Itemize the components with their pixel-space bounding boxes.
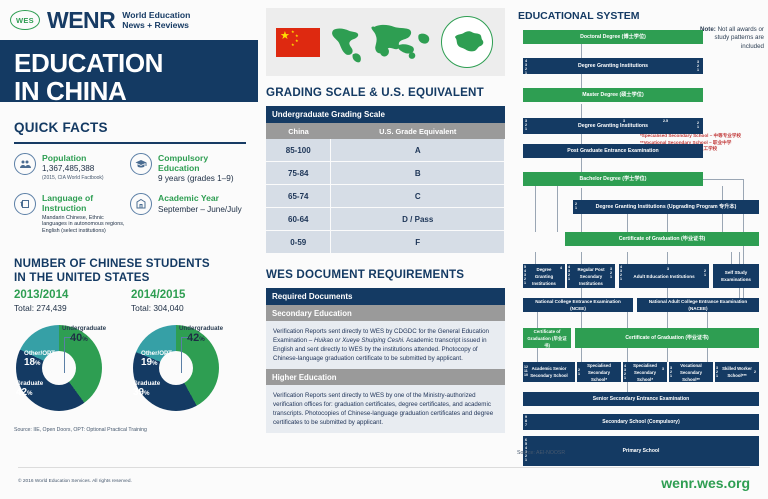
- cell-us-grade: A: [331, 139, 505, 162]
- population-icon: [14, 153, 36, 175]
- flow-box-specialised-secondary-b: Specialised Secondary School*: [623, 362, 667, 382]
- students-heading-2: IN THE UNITED STATES: [14, 271, 248, 285]
- chart-total: Total: 274,439: [14, 303, 131, 313]
- year-markers-right: 3: [662, 367, 664, 371]
- documents-section: WES DOCUMENT REQUIREMENTS Required Docum…: [258, 254, 513, 433]
- quick-facts-section: QUICK FACTS Population 1,367,485,388 (20…: [0, 102, 258, 243]
- flow-box-postgrad-entrance-exam: Post Graduate Entrance Examination: [523, 144, 703, 158]
- flow-box-senior-secondary-entrance-exam: Senior Secondary Entrance Examination: [523, 392, 759, 406]
- table-header-row: China U.S. Grade Equivalent: [266, 123, 505, 139]
- flow-box-academic-senior-secondary: Academic Senior Secondary School: [523, 362, 575, 382]
- year-markers-left: 2 1: [575, 202, 577, 210]
- wenr-wordmark: WENR: [47, 7, 115, 34]
- flow-box-vocational-secondary: Vocational Secondary School**: [669, 362, 713, 382]
- title-line-2: IN CHINA: [14, 77, 258, 105]
- tagline-line-1: World Education: [122, 10, 190, 21]
- flow-box-dgi-master: Degree Granting Institutions: [523, 118, 703, 134]
- fact-label: Language of Instruction: [42, 193, 130, 213]
- year-markers-left: 3 2 1: [670, 366, 672, 378]
- year-markers-right: 2 1: [697, 121, 699, 129]
- donut-chart-2013: 2013/2014 Total: 274,439 Other/OPT 18% G…: [14, 289, 131, 421]
- copyright-text: © 2016 World Education Services. All rig…: [18, 479, 132, 484]
- chart-year: 2014/2015: [131, 289, 248, 301]
- documents-heading: WES DOCUMENT REQUIREMENTS: [266, 268, 505, 282]
- page-footer: © 2016 World Education Services. All rig…: [0, 467, 768, 499]
- flow-box-secondary-compulsory: Secondary School (Compulsory): [523, 414, 759, 430]
- doc-subtitle-secondary: Secondary Education: [266, 305, 505, 321]
- cell-us-grade: B: [331, 162, 505, 185]
- segment-label-undergraduate: Undergraduate 40%: [62, 325, 122, 344]
- cell-china-range: 65-74: [266, 185, 331, 208]
- flow-box-certificate-graduation-2: Certificate of Graduation (毕业证书): [523, 328, 571, 348]
- year-markers-right: 3 2 1: [697, 60, 699, 72]
- wes-logo-text: WES: [16, 16, 34, 25]
- grading-heading: GRADING SCALE & U.S. EQUIVALENT: [266, 86, 505, 100]
- page-title: EDUCATION IN CHINA: [0, 40, 258, 102]
- fact-label: Academic Year: [158, 193, 242, 203]
- documents-box: Required Documents Secondary Education V…: [266, 288, 505, 433]
- flow-box-certificate-graduation-1: Certificate of Graduation (毕业证书): [565, 232, 759, 246]
- fact-note: Mandarin Chinese, Ethnic languages in au…: [42, 215, 130, 235]
- cell-china-range: 75-84: [266, 162, 331, 185]
- quick-facts-grid: Population 1,367,485,388 (2015, CIA Worl…: [14, 153, 246, 244]
- cell-us-grade: F: [331, 231, 505, 254]
- year-markers-left: 4 3 2 1: [624, 364, 626, 380]
- fact-label: Population: [42, 153, 104, 163]
- doc-text-higher: Verification Reports sent directly to WE…: [266, 385, 505, 433]
- cell-china-range: 0-59: [266, 231, 331, 254]
- year-markers-right: 4: [560, 266, 562, 270]
- year-markers-left: 4 3 2 1: [525, 59, 527, 75]
- leader-line: [181, 337, 188, 373]
- flow-box-upgrading-program: Degree Granting Institutions (Upgrading …: [573, 200, 759, 214]
- flow-box-skilled-worker-school: Skilled Worker School***: [715, 362, 759, 382]
- doc-subtitle-higher: Higher Education: [266, 369, 505, 385]
- education-system-source: Source: AEI-NOOSR: [517, 450, 565, 456]
- fact-note: (2015, CIA World Factbook): [42, 175, 104, 181]
- left-column: WES WENR World Education News + Reviews …: [0, 0, 258, 465]
- year-markers-left: 2 1: [578, 368, 580, 376]
- grading-section: GRADING SCALE & U.S. EQUIVALENT Undergra…: [258, 76, 513, 254]
- flow-box-dgi-doctoral: Degree Granting Institutions: [523, 58, 703, 74]
- year-markers-left: 3 2 1: [525, 119, 527, 131]
- year-markers-left: 12 11 10: [524, 365, 528, 377]
- documents-caption: Required Documents: [266, 288, 505, 305]
- fact-academic-year: Academic Year September – June/July: [130, 193, 246, 234]
- segment-label-graduate: Graduate 39%: [133, 379, 160, 399]
- year-markers-left: 3 2 1: [716, 366, 718, 378]
- brand-tagline: World Education News + Reviews: [115, 10, 190, 31]
- education-system-heading: EDUCATIONAL SYSTEM: [518, 10, 768, 22]
- cell-us-grade: D / Pass: [331, 208, 505, 231]
- year-markers-left: 9 8 7: [525, 415, 527, 427]
- fact-language-of-instruction: Language of Instruction Mandarin Chinese…: [14, 193, 130, 234]
- book-icon: [14, 193, 36, 215]
- brand-header: WES WENR World Education News + Reviews: [0, 0, 258, 40]
- students-section: NUMBER OF CHINESE STUDENTS IN THE UNITED…: [0, 243, 258, 433]
- title-line-1: EDUCATION: [14, 49, 258, 77]
- footer-divider: [18, 467, 750, 468]
- table-row: 60-64 D / Pass: [266, 208, 505, 231]
- education-system-flowchart: Doctoral Degree (博士学位) Degree Granting I…: [517, 26, 767, 456]
- china-flag-icon: ★ ★ ★ ★ ★: [276, 28, 320, 57]
- grading-table: Undergraduate Grading Scale China U.S. G…: [266, 106, 505, 254]
- year-marker-top-b: 2.5: [663, 119, 668, 123]
- flow-box-ncee: National College Entrance Examination (N…: [523, 298, 633, 312]
- students-source: Source: IIE, Open Doors, OPT: Optional P…: [14, 427, 248, 433]
- donut-chart-2014: 2014/2015 Total: 304,040 Other/OPT 19% G…: [131, 289, 248, 421]
- chart-total: Total: 304,040: [131, 303, 248, 313]
- flow-box-certificate-graduation-3: Certificate of Graduation (毕业证书): [575, 328, 759, 348]
- flow-box-adult-education: Adult Education Institutions: [619, 264, 709, 288]
- divider: [14, 142, 246, 144]
- infographic-page: WES WENR World Education News + Reviews …: [0, 0, 768, 499]
- fact-value: September – June/July: [158, 205, 242, 215]
- table-row: 65-74 C: [266, 185, 505, 208]
- doc-text-secondary: Verification Reports sent directly to WE…: [266, 321, 505, 369]
- flow-box-doctoral-degree: Doctoral Degree (博士学位): [523, 30, 703, 44]
- flow-box-master-degree: Master Degree (硕士学位): [523, 88, 703, 102]
- year-markers-right: 2 1: [704, 269, 706, 277]
- table-row: 0-59 F: [266, 231, 505, 254]
- column-header-china: China: [266, 123, 331, 139]
- table-caption: Undergraduate Grading Scale: [266, 106, 505, 123]
- cell-china-range: 85-100: [266, 139, 331, 162]
- year-marker-top-a: 3: [667, 267, 669, 271]
- cell-us-grade: C: [331, 185, 505, 208]
- flow-box-specialised-secondary-a: Specialised Secondary School*: [577, 362, 621, 382]
- wenr-url[interactable]: wenr.wes.org: [661, 475, 750, 491]
- flow-box-nacee: National Adult College Entrance Examinat…: [637, 298, 759, 312]
- table-row: 85-100 A: [266, 139, 505, 162]
- segment-label-other: Other/OPT 19%: [141, 349, 172, 369]
- donut-charts: 2013/2014 Total: 274,439 Other/OPT 18% G…: [14, 289, 248, 421]
- graduation-cap-icon: [130, 153, 152, 175]
- hero-banner: ★ ★ ★ ★ ★: [266, 8, 505, 76]
- flow-box-regular-post-secondary: Regular Post Secondary Institutions: [567, 264, 615, 288]
- quick-facts-heading: QUICK FACTS: [14, 120, 246, 135]
- tagline-line-2: News + Reviews: [122, 20, 190, 31]
- world-map-graphic: [320, 12, 441, 72]
- segment-label-undergraduate: Undergraduate 42%: [179, 325, 239, 344]
- year-markers-left: 4 3 2 1: [620, 265, 622, 281]
- flow-box-bachelor-degree: Bachelor Degree (学士学位): [523, 172, 703, 186]
- fact-population: Population 1,367,485,388 (2015, CIA Worl…: [14, 153, 130, 185]
- year-markers-right: 2: [754, 370, 756, 374]
- students-heading-1: NUMBER OF CHINESE STUDENTS: [14, 257, 248, 271]
- chart-year: 2013/2014: [14, 289, 131, 301]
- wes-logo-icon: WES: [10, 10, 40, 30]
- year-markers-left: 5 4 3 2 1: [524, 265, 526, 285]
- year-markers-left: 4 3 2 1: [568, 265, 570, 281]
- flow-box-dgi-tier3: Degree Granting Institutions: [523, 264, 565, 288]
- middle-column: ★ ★ ★ ★ ★: [258, 0, 513, 465]
- fact-label: Compulsory Education: [158, 153, 246, 173]
- column-header-us: U.S. Grade Equivalent: [331, 123, 505, 139]
- china-map-icon: [441, 16, 493, 68]
- cell-china-range: 60-64: [266, 208, 331, 231]
- leader-line: [64, 337, 71, 373]
- segment-label-other: Other/OPT 18%: [24, 349, 55, 369]
- year-markers-right: 3 2 1: [610, 267, 612, 279]
- fact-value: 1,367,485,388: [42, 164, 104, 174]
- education-system-column: EDUCATIONAL SYSTEM Note: Not all awards …: [513, 0, 768, 465]
- segment-label-graduate: Graduate 42%: [16, 379, 43, 399]
- flow-box-self-study-exams: Self Study Examinations: [713, 264, 759, 288]
- table-caption-row: Undergraduate Grading Scale: [266, 106, 505, 123]
- fact-value: 9 years (grades 1–9): [158, 174, 246, 184]
- school-building-icon: [130, 193, 152, 215]
- table-row: 75-84 B: [266, 162, 505, 185]
- fact-compulsory-education: Compulsory Education 9 years (grades 1–9…: [130, 153, 246, 185]
- year-marker-top-a: 3: [623, 119, 625, 123]
